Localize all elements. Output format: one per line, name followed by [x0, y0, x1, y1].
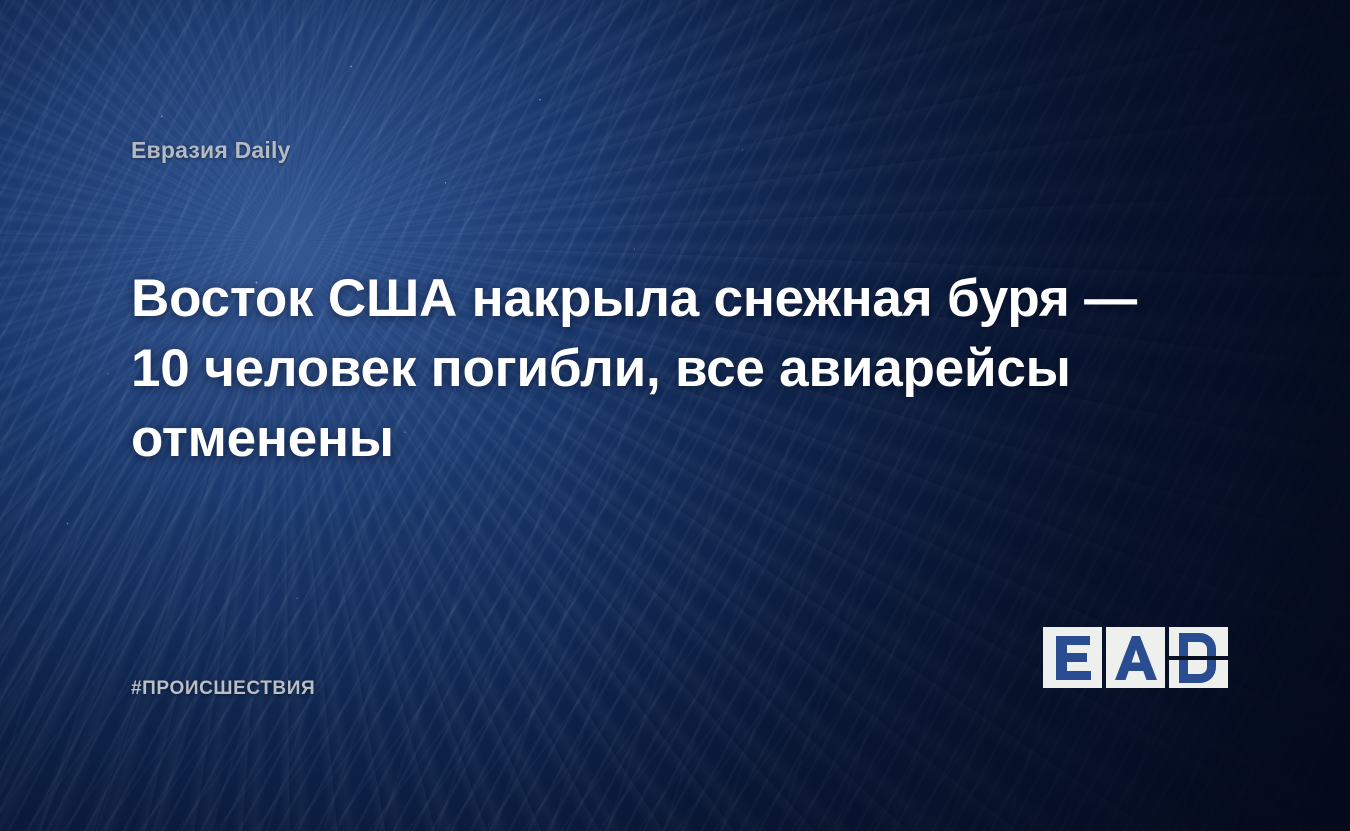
logo-letter-e-glyph [1054, 636, 1092, 680]
logo-letter-a-glyph [1115, 636, 1157, 680]
card-content: Евразия Daily Восток США накрыла снежная… [0, 0, 1350, 831]
logo-tile-d-bottom [1169, 660, 1228, 689]
ead-logo [1043, 627, 1228, 688]
logo-tile-d-top [1169, 627, 1228, 656]
category-hashtag: #ПРОИСШЕСТВИЯ [131, 678, 315, 700]
logo-tile-e [1043, 627, 1102, 688]
logo-tile-d [1169, 627, 1228, 688]
logo-tile-a [1106, 627, 1165, 688]
logo-letter-d-top-glyph [1169, 627, 1228, 656]
brand-name: Евразия Daily [131, 137, 291, 164]
news-share-card: Евразия Daily Восток США накрыла снежная… [0, 0, 1350, 831]
logo-letter-d-bottom-glyph [1169, 660, 1228, 689]
article-headline: Восток США накрыла снежная буря — 10 чел… [131, 264, 1161, 474]
